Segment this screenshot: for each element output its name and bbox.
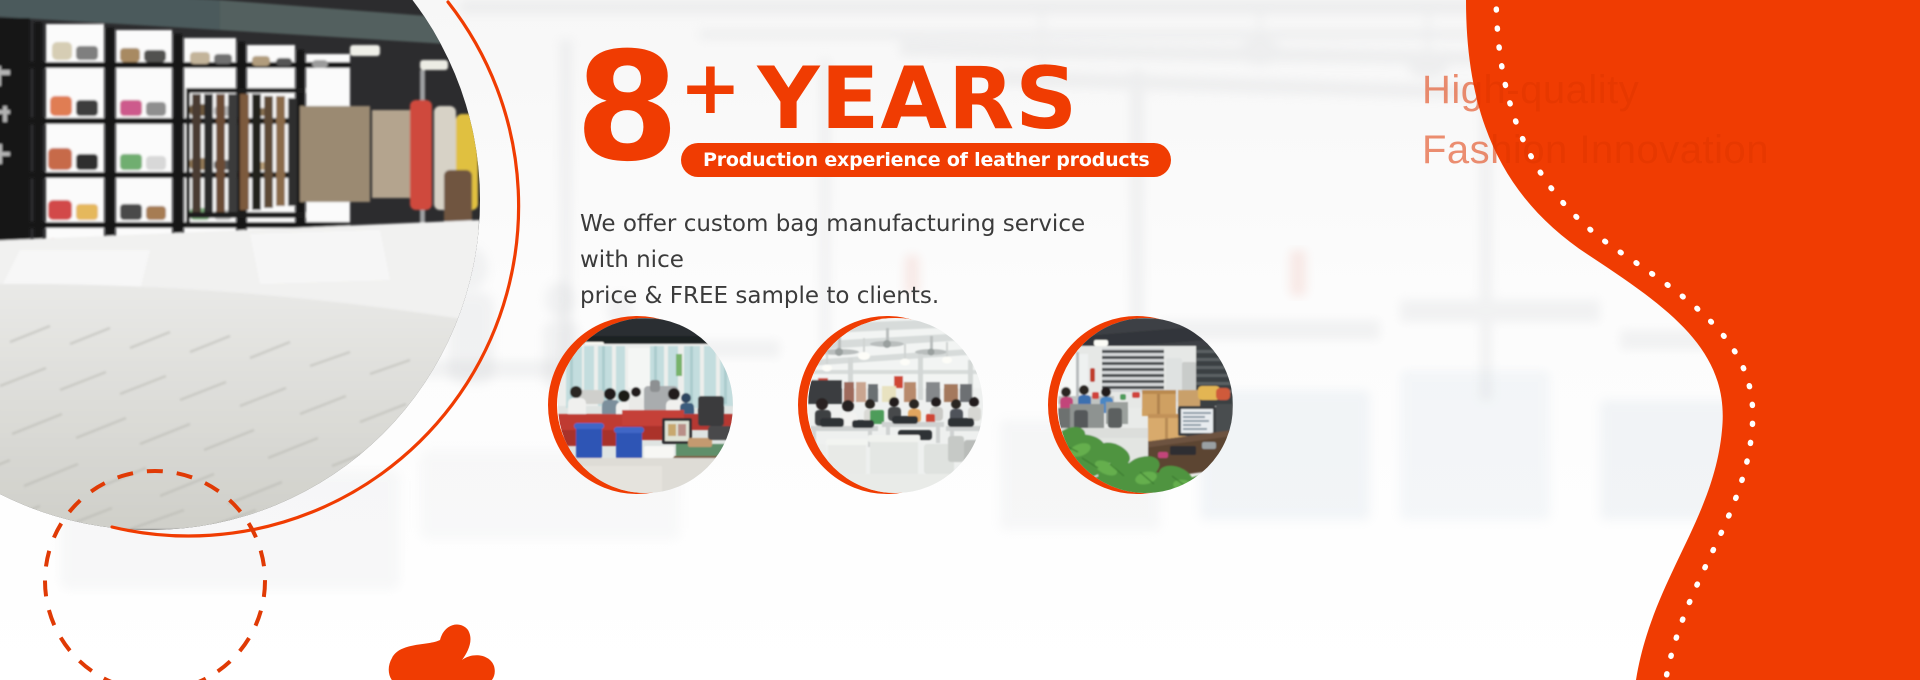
years-word: YEARS [757,58,1078,140]
thumbnail-photo-2 [808,318,983,493]
dashed-circle-decoration [40,466,270,680]
blob-watermark-line-2: Fashion Innovation [1422,120,1882,180]
thumbnail-office-area [1058,318,1233,493]
experience-badge-label: Production experience of leather product… [703,149,1149,171]
promo-banner: High-quality Fashion Innovation 8 + YEAR… [0,0,1920,680]
thumbnail-sewing-workshop [558,318,733,493]
description-line-2: price & FREE sample to clients. [580,278,1110,314]
thumbnail-photo-3 [1058,318,1233,493]
thumbnail-photo-1 [558,318,733,493]
small-blob-decoration [382,606,517,680]
blob-watermark-line-1: High-quality [1422,60,1882,120]
thumbnail-factory-floor [808,318,983,493]
description-line-1: We offer custom bag manufacturing servic… [580,206,1110,278]
description-text: We offer custom bag manufacturing servic… [580,206,1110,314]
plus-sign: + [679,56,741,120]
blob-watermark-text: High-quality Fashion Innovation [1422,60,1882,180]
years-number: 8 [575,46,675,170]
experience-badge: Production experience of leather product… [681,143,1171,177]
